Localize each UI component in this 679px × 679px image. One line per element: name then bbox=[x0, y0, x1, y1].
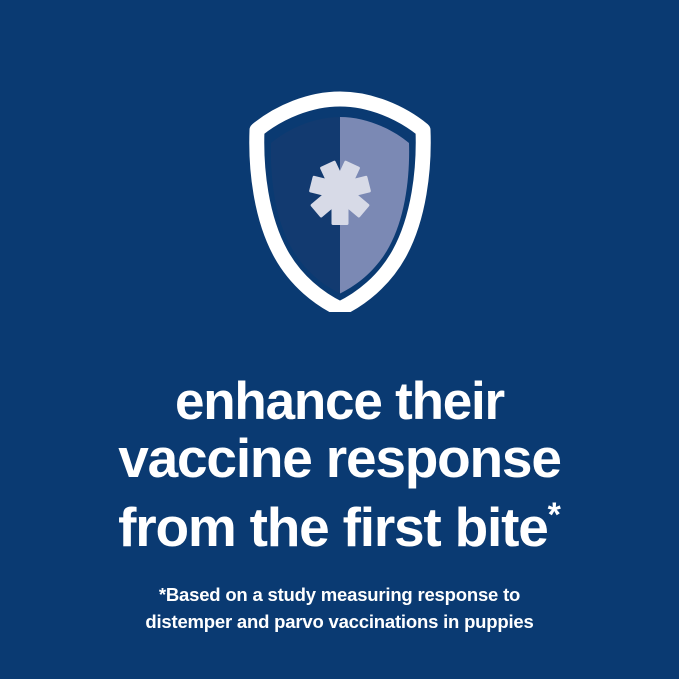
headline-line-1: enhance their bbox=[0, 373, 679, 430]
shield-sunburst-logo bbox=[243, 90, 437, 312]
footnote-line-1: *Based on a study measuring response to bbox=[0, 581, 679, 608]
footnote-line-2: distemper and parvo vaccinations in pupp… bbox=[0, 608, 679, 635]
headline-asterisk: * bbox=[548, 496, 561, 534]
footnote: *Based on a study measuring response to … bbox=[0, 581, 679, 635]
headline-line-2: vaccine response bbox=[0, 430, 679, 487]
headline: enhance their vaccine response from the … bbox=[0, 373, 679, 556]
ray-bottom bbox=[332, 179, 349, 225]
headline-line-3: from the first bite* bbox=[0, 487, 679, 556]
headline-line-3-text: from the first bite bbox=[118, 496, 547, 558]
promo-card: enhance their vaccine response from the … bbox=[0, 0, 679, 679]
